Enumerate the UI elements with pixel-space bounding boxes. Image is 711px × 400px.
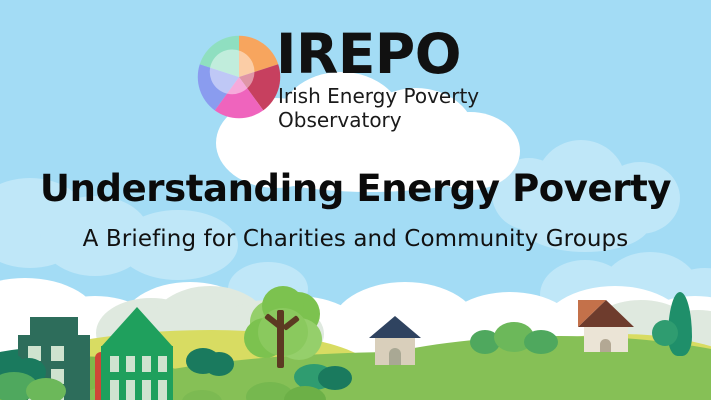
slide-subtitle: A Briefing for Charities and Community G… [0,224,711,254]
hill-house-roof-accent [578,300,606,327]
slide-title: Understanding Energy Poverty [0,167,711,211]
window [158,380,167,400]
gabled-green-house-roof [101,307,173,347]
bush [204,352,234,376]
window [126,356,135,372]
window [110,380,119,400]
hill-house-door [600,339,611,352]
beige-house-door [389,348,401,365]
window [158,356,167,372]
window [142,356,151,372]
pie-wheel-icon [196,34,282,120]
window [126,380,135,400]
window [110,356,119,372]
bush [26,378,66,400]
tree-trunk [277,310,284,368]
bush [524,330,558,354]
window [51,346,64,361]
irepo-logo: IREPO Irish Energy Poverty Observatory [196,26,526,156]
logo-tagline: Irish Energy Poverty Observatory [278,84,526,132]
logo-wordmark: IREPO [276,26,526,82]
window [142,380,151,400]
cypress-side-bush [652,320,678,346]
presentation-title-slide: IREPO Irish Energy Poverty Observatory U… [0,0,711,400]
beige-house-roof [369,316,421,338]
bush [318,366,352,390]
